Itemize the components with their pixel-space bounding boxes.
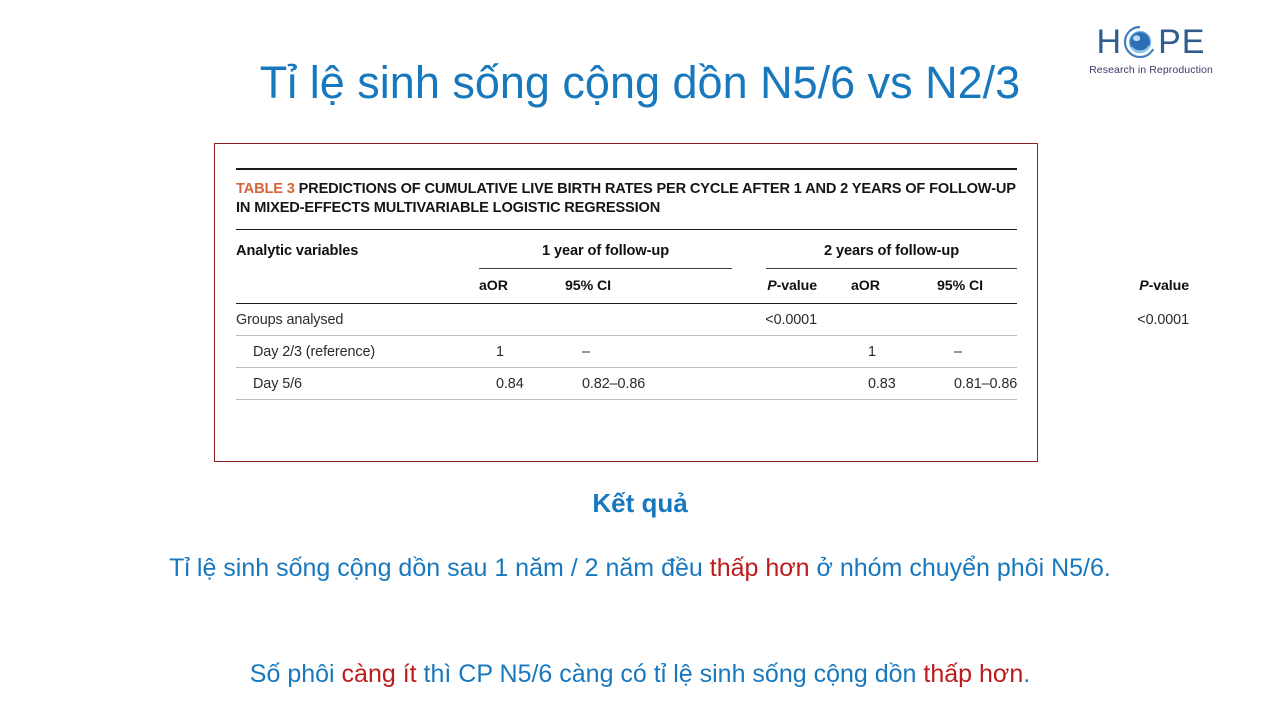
group-rule-1-year — [479, 268, 732, 269]
cell-pvalue-1y: <0.0001 — [707, 312, 817, 328]
table-bottom-rule — [236, 399, 1017, 400]
conclusion-2-part-a: Số phôi — [250, 660, 342, 688]
conclusion-1-highlight: thấp hơn — [710, 554, 810, 582]
conclusion-2-part-b: thì CP N5/6 càng có tỉ lệ sinh sống cộng… — [417, 660, 924, 688]
row-label: Day 2/3 (reference) — [236, 344, 496, 360]
conclusion-heading: Kết quả — [0, 488, 1280, 519]
conclusion-paragraph-2: Số phôi càng ít thì CP N5/6 càng có tỉ l… — [48, 658, 1232, 691]
rule-spacer-variables — [236, 259, 479, 269]
pvalue-italic-p-2y: P — [1139, 278, 1148, 294]
rule-gap — [732, 259, 766, 269]
column-group-header-2-years: 2 years of follow-up — [766, 243, 1017, 259]
conclusion-1-part-a: Tỉ lệ sinh sống cộng dồn sau 1 năm / 2 n… — [169, 554, 710, 582]
hope-logo-letter-h: H — [1097, 25, 1123, 59]
column-group-header-1-year: 1 year of follow-up — [479, 243, 732, 259]
cell-ci-2y: – — [954, 344, 1096, 360]
hope-logo-wordmark: H P E — [1082, 22, 1220, 62]
conclusion-paragraph-1: Tỉ lệ sinh sống cộng dồn sau 1 năm / 2 n… — [48, 548, 1232, 589]
cell-ci-1y: – — [582, 344, 724, 360]
page-title: Tỉ lệ sinh sống cộng dồn N5/6 vs N2/3 — [0, 58, 1280, 108]
column-header-ci-1y: 95% CI — [565, 278, 707, 294]
group-rule-2-years — [766, 268, 1017, 269]
cell-ci-2y: 0.81–0.86 — [954, 376, 1096, 392]
table-caption-text: PREDICTIONS OF CUMULATIVE LIVE BIRTH RAT… — [236, 181, 1016, 216]
table-row: Groups analysed <0.0001 <0.0001 — [236, 304, 1017, 335]
table-figure: TABLE 3 PREDICTIONS OF CUMULATIVE LIVE B… — [214, 143, 1038, 462]
table-row: Day 5/6 0.84 0.82–0.86 0.83 0.81–0.86 — [236, 368, 1017, 399]
column-header-pvalue-1y: P-value — [707, 278, 817, 294]
column-header-analytic-variables: Analytic variables — [236, 243, 479, 259]
conclusion-1-part-b: ở nhóm chuyển phôi N5/6. — [810, 554, 1111, 582]
hope-eye-icon — [1123, 25, 1157, 59]
conclusion-2-part-c: . — [1023, 660, 1030, 688]
column-header-aor-1y: aOR — [479, 278, 565, 294]
table-caption-rule — [236, 229, 1017, 230]
table-header-subcolumns: aOR 95% CI P-value aOR 95% CI P-value — [236, 278, 1017, 294]
row-label: Day 5/6 — [236, 376, 496, 392]
table-header-groups: Analytic variables 1 year of follow-up 2… — [236, 243, 1017, 259]
table-top-rule — [236, 168, 1017, 170]
hope-logo-letter-e: E — [1182, 25, 1206, 59]
table-row: Day 2/3 (reference) 1 – 1 – — [236, 336, 1017, 367]
conclusion-2-highlight-2: thấp hơn — [923, 660, 1023, 688]
pvalue-italic-p-1y: P — [767, 278, 776, 294]
table-caption-number: TABLE 3 — [236, 181, 295, 197]
pvalue-suffix-1y: -value — [777, 278, 817, 294]
conclusion-2-highlight-1: càng ít — [342, 660, 417, 688]
table-inner: TABLE 3 PREDICTIONS OF CUMULATIVE LIVE B… — [236, 144, 1017, 400]
pvalue-suffix-2y: -value — [1149, 278, 1189, 294]
cell-aor-2y: 1 — [868, 344, 954, 360]
cell-aor-1y: 1 — [496, 344, 582, 360]
column-header-ci-2y: 95% CI — [937, 278, 1079, 294]
row-label: Groups analysed — [236, 312, 479, 328]
cell-ci-1y: 0.82–0.86 — [582, 376, 724, 392]
column-header-aor-2y: aOR — [851, 278, 937, 294]
cell-aor-2y: 0.83 — [868, 376, 954, 392]
cell-aor-1y: 0.84 — [496, 376, 582, 392]
column-header-pvalue-2y: P-value — [1079, 278, 1189, 294]
hope-logo-letter-p: P — [1158, 25, 1182, 59]
table-caption: TABLE 3 PREDICTIONS OF CUMULATIVE LIVE B… — [236, 180, 1017, 218]
cell-pvalue-2y: <0.0001 — [1079, 312, 1189, 328]
table-group-rules — [236, 259, 1017, 269]
